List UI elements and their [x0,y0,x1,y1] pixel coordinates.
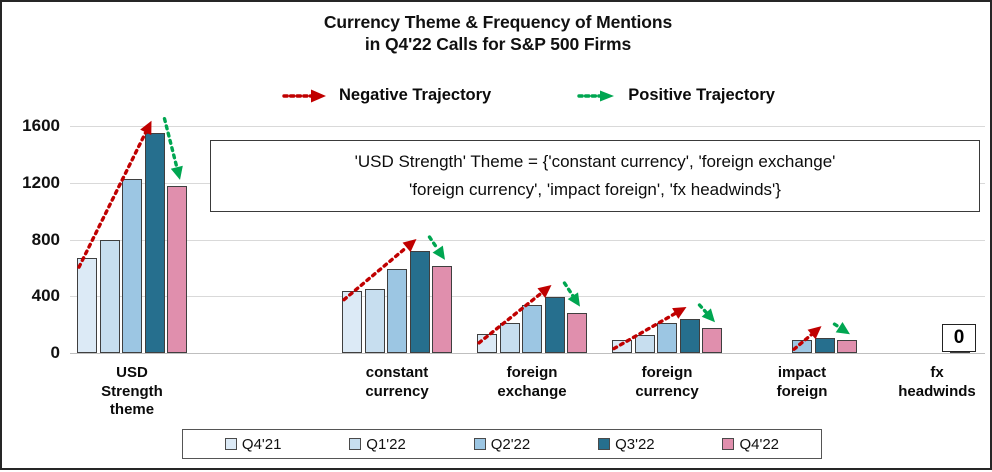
x-axis-category-label-line: fx [857,364,992,383]
bar [122,179,142,353]
bar [342,291,362,353]
legend-swatch [722,438,734,450]
legend-label: Q1'22 [366,436,406,453]
bar [815,338,835,353]
legend-swatch [474,438,486,450]
bar [432,266,452,353]
bar [657,323,677,353]
annotation-line-2: 'foreign currency', 'impact foreign', 'f… [409,176,781,204]
bar [387,269,407,353]
chart-title-line-1: Currency Theme & Frequency of Mentions [2,11,992,33]
legend-item-q322: Q3'22 [598,436,655,453]
legend-item-q422: Q4'22 [722,436,779,453]
legend-label: Q4'21 [242,436,282,453]
annotation-line-1: 'USD Strength' Theme = {'constant curren… [355,148,836,176]
bar [167,186,187,353]
plot-area [70,98,985,353]
y-axis-tick-label: 0 [51,343,60,363]
zero-value-callout: 0 [942,324,976,352]
bar [792,340,812,353]
legend-item-q421: Q4'21 [225,436,282,453]
gridline [70,296,985,297]
bar [612,340,632,353]
gridline [70,126,985,127]
series-legend: Q4'21Q1'22Q2'22Q3'22Q4'22 [182,429,822,459]
bar [100,240,120,353]
bar [77,258,97,353]
legend-swatch [598,438,610,450]
theme-definition-callout: 'USD Strength' Theme = {'constant curren… [210,140,980,212]
legend-item-q222: Q2'22 [474,436,531,453]
x-axis-category-label: USDStrengththeme [52,364,212,420]
y-axis-tick-label: 1200 [22,173,60,193]
bar [500,323,520,353]
bar [145,133,165,353]
legend-label: Q2'22 [491,436,531,453]
y-axis: 040080012001600 [2,98,64,353]
bar [522,305,542,353]
chart-container: Currency Theme & Frequency of Mentions i… [0,0,992,470]
x-axis-category-label-line: theme [52,401,212,420]
bar [545,297,565,353]
legend-swatch [225,438,237,450]
x-axis-category-label-line: Strength [52,383,212,402]
y-axis-tick-label: 800 [32,230,60,250]
bar [477,334,497,353]
legend-label: Q3'22 [615,436,655,453]
page-title: Currency Theme & Frequency of Mentions i… [2,11,992,55]
x-axis-category-label: fxheadwinds [857,364,992,401]
bar [567,313,587,353]
legend-item-q122: Q1'22 [349,436,406,453]
y-axis-tick-label: 1600 [22,116,60,136]
x-axis-category-label-line: USD [52,364,212,383]
bar [680,319,700,353]
legend-swatch [349,438,361,450]
bar [635,335,655,353]
x-axis-category-label-line: headwinds [857,383,992,402]
bar [702,328,722,353]
bar [410,251,430,353]
gridline [70,353,985,354]
bar [837,340,857,353]
legend-label: Q4'22 [739,436,779,453]
gridline [70,240,985,241]
bar [365,289,385,353]
y-axis-tick-label: 400 [32,286,60,306]
chart-title-line-2: in Q4'22 Calls for S&P 500 Firms [2,33,992,55]
